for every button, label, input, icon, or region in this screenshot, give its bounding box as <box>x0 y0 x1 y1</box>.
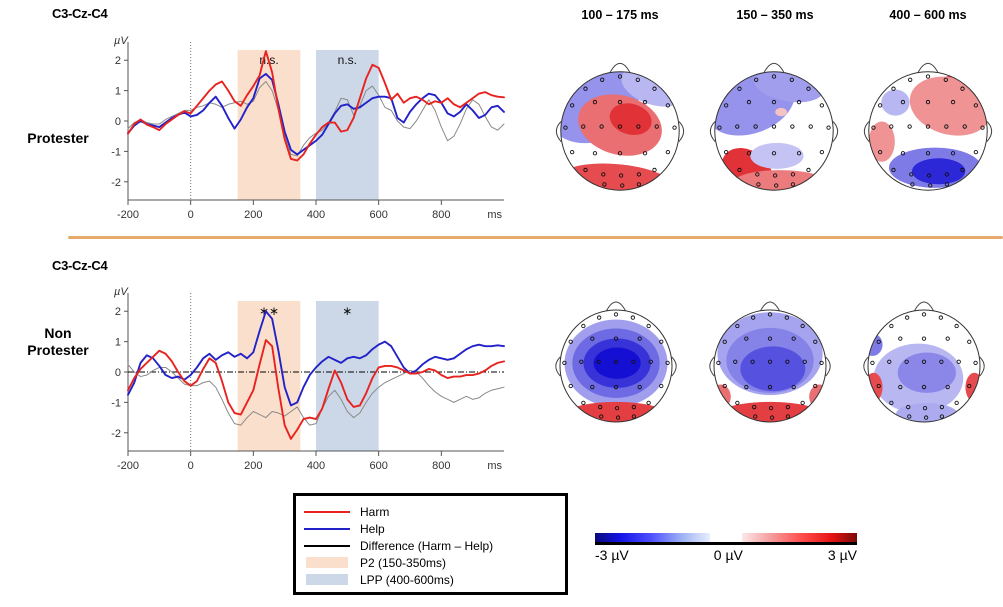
nose-marker <box>764 63 784 72</box>
y-tick-label: 1 <box>115 86 121 98</box>
colorbar-mid-label: 0 µV <box>714 547 743 563</box>
y-tick-label: 0 <box>115 367 121 379</box>
section-divider <box>68 236 1003 239</box>
x-axis-label: ms <box>487 460 502 472</box>
colorbar-min-label: -3 µV <box>595 547 629 563</box>
scalp-map-svg <box>546 57 694 205</box>
colorbar-axis-line <box>595 542 857 545</box>
channel-label-non-protester: C3-Cz-C4 <box>52 258 107 273</box>
y-axis-label: µV <box>114 35 129 47</box>
erp-waveform-svg: n.s.n.s.-2-1012-2000200400600800µVms <box>100 32 510 232</box>
topoplot-protester-100-175ms <box>546 57 694 210</box>
legend-item-label: P2 (150-350ms) <box>350 556 446 570</box>
y-tick-label: -1 <box>111 397 121 409</box>
x-tick-label: 400 <box>307 460 325 472</box>
x-tick-label: -200 <box>117 209 139 221</box>
topoplot-protester-150-350ms <box>700 57 848 210</box>
legend-item-label: Help <box>350 522 385 536</box>
x-tick-label: 800 <box>432 460 450 472</box>
x-tick-label: 400 <box>307 209 325 221</box>
x-tick-label: 600 <box>369 209 387 221</box>
significance-label-lpp: n.s. <box>338 53 357 67</box>
significance-band-p2: n.s. <box>238 50 301 200</box>
y-tick-label: 2 <box>115 55 121 67</box>
scalp-map-svg <box>700 57 848 205</box>
colorbar-negative-half <box>595 533 710 542</box>
legend-line-swatch <box>304 522 350 535</box>
y-axis-label: µV <box>114 286 129 298</box>
topoplot-non-protester-100-175ms <box>546 296 686 441</box>
y-tick-label: 1 <box>115 337 121 349</box>
topo-header-1: 150 – 350 ms <box>700 8 850 22</box>
legend-swatch-mark <box>304 511 350 514</box>
scalp-map-svg <box>854 296 994 436</box>
row-label-protester: Protester <box>8 130 108 147</box>
legend-item: Harm <box>304 503 555 520</box>
colorbar-zero-gap <box>710 533 741 542</box>
scalp-map-svg <box>854 57 1002 205</box>
colorbar-max-label: 3 µV <box>828 547 857 563</box>
x-tick-label: 0 <box>188 209 194 221</box>
legend-item: Difference (Harm – Help) <box>304 537 555 554</box>
topo-header-2: 400 – 600 ms <box>853 8 1003 22</box>
legend-item: P2 (150-350ms) <box>304 554 555 571</box>
topoplot-non-protester-150-350ms <box>700 296 840 441</box>
legend-patch-swatch <box>304 573 350 586</box>
legend-item: Help <box>304 520 555 537</box>
legend-swatch-mark <box>304 528 350 531</box>
x-tick-label: 0 <box>188 460 194 472</box>
x-axis-label: ms <box>487 209 502 221</box>
topoplot-non-protester-400-600ms <box>854 296 994 441</box>
x-tick-label: 800 <box>432 209 450 221</box>
legend-item-label: Harm <box>350 505 389 519</box>
legend-patch-swatch <box>304 556 350 569</box>
erp-plot-non-protester: ∗∗∗-2-1012-2000200400600800µVms <box>100 283 510 483</box>
legend-swatch-mark <box>306 557 348 568</box>
legend-swatch-mark <box>304 545 350 548</box>
significance-band-lpp: ∗ <box>316 301 379 451</box>
y-tick-label: -2 <box>111 177 121 189</box>
legend-item-label: LPP (400-600ms) <box>350 573 454 587</box>
row-label-non-protester: Non Protester <box>8 325 108 359</box>
y-tick-label: 2 <box>115 306 121 318</box>
significance-band-p2: ∗∗ <box>238 301 301 451</box>
colorbar: -3 µV 0 µV 3 µV <box>595 533 857 563</box>
scalp-map-svg <box>546 296 686 436</box>
x-tick-label: 200 <box>244 460 262 472</box>
legend-line-swatch <box>304 539 350 552</box>
channel-label-protester: C3-Cz-C4 <box>52 6 107 21</box>
scalp-field <box>560 310 672 429</box>
erp-waveform-svg: ∗∗∗-2-1012-2000200400600800µVms <box>100 283 510 483</box>
y-tick-label: -1 <box>111 146 121 158</box>
topoplot-protester-400-600ms <box>854 57 1002 210</box>
significance-label-lpp: ∗ <box>342 304 352 318</box>
y-tick-label: -2 <box>111 428 121 440</box>
colorbar-gradient <box>595 533 857 542</box>
colorbar-positive-half <box>742 533 857 542</box>
nose-marker <box>918 63 938 72</box>
scalp-field <box>869 68 998 191</box>
x-tick-label: 200 <box>244 209 262 221</box>
legend: HarmHelpDifference (Harm – Help)P2 (150-… <box>293 493 568 595</box>
topo-header-0: 100 – 175 ms <box>545 8 695 22</box>
scalp-field <box>700 58 833 205</box>
x-tick-label: -200 <box>117 460 139 472</box>
legend-item-label: Difference (Harm – Help) <box>350 539 493 553</box>
x-tick-label: 600 <box>369 460 387 472</box>
erp-plot-protester: n.s.n.s.-2-1012-2000200400600800µVms <box>100 32 510 232</box>
scalp-field <box>862 310 983 425</box>
nose-marker <box>610 63 630 72</box>
legend-item: LPP (400-600ms) <box>304 571 555 588</box>
y-tick-label: 0 <box>115 116 121 128</box>
legend-line-swatch <box>304 505 350 518</box>
scalp-map-svg <box>700 296 840 436</box>
legend-swatch-mark <box>306 574 348 585</box>
